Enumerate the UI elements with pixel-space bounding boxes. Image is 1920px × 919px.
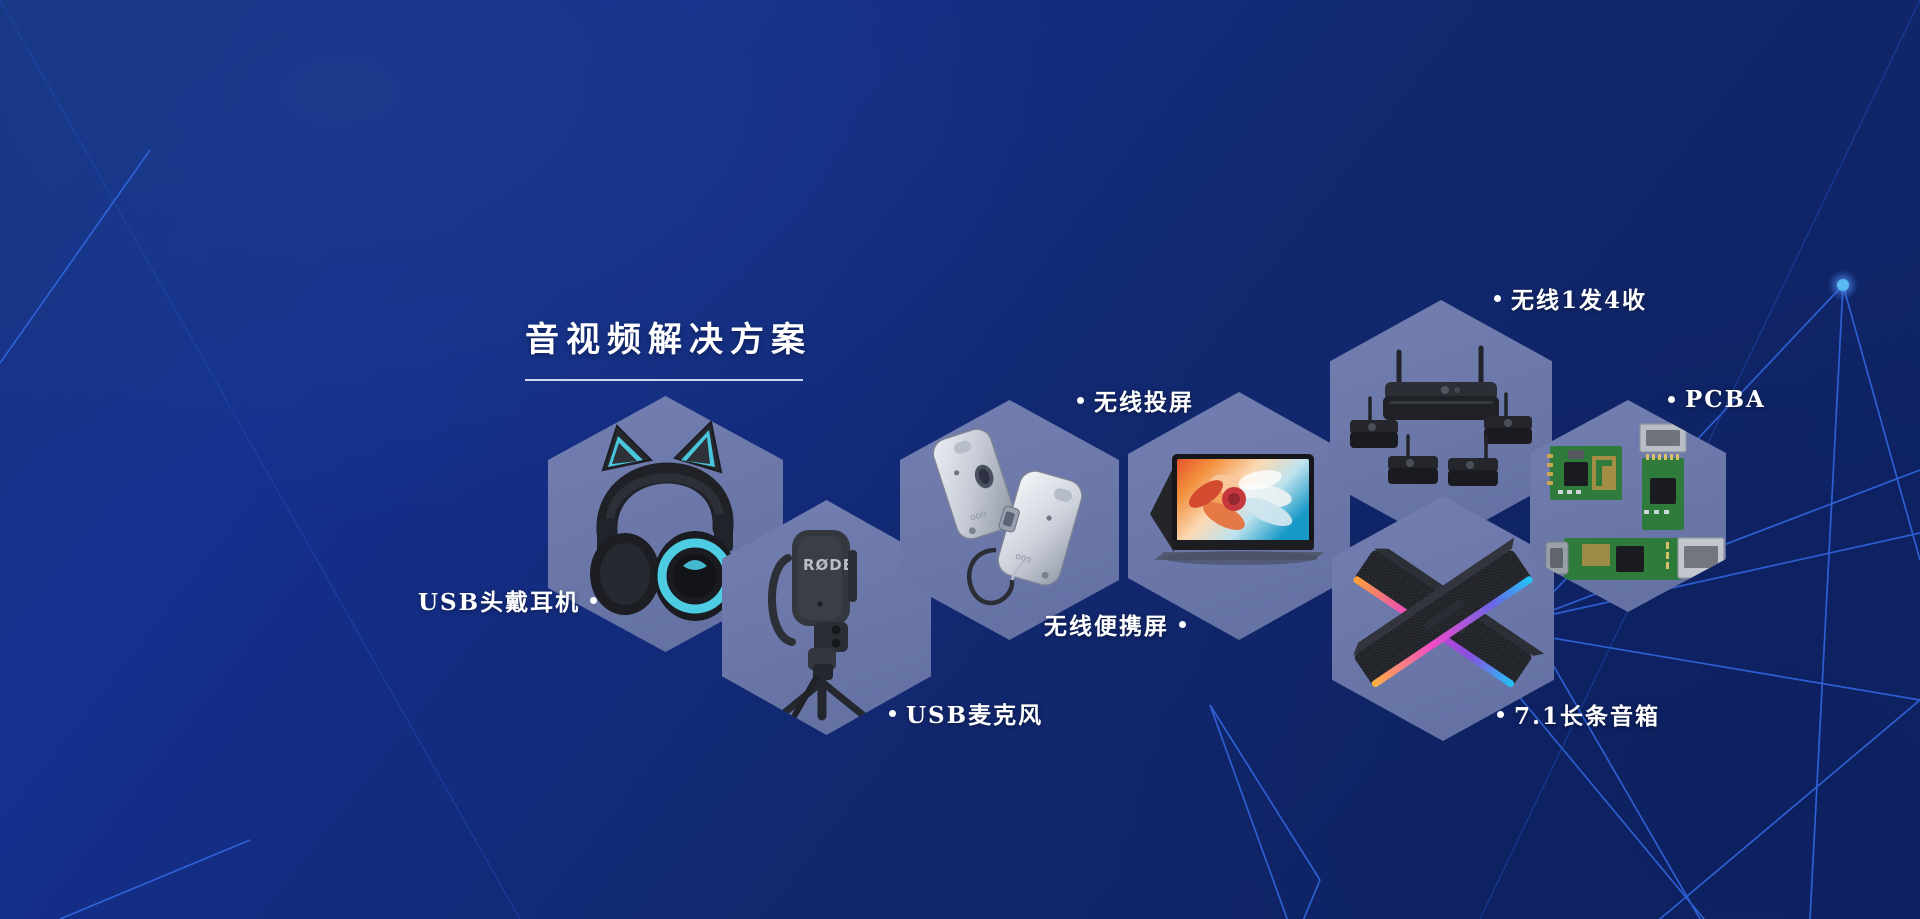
wireless-cast-dongle-icon: ooo ooo	[900, 400, 1119, 640]
label-wireless-casting: 无线投屏	[1077, 383, 1194, 417]
bullet-dot	[1497, 711, 1504, 718]
label-usb-headset: USB头戴耳机	[418, 583, 597, 617]
bullet-dot	[889, 710, 896, 717]
portable-monitor-icon	[1128, 392, 1350, 640]
svg-text:RØDE: RØDE	[803, 556, 854, 574]
title-underline	[525, 379, 803, 381]
label-usb-microphone: USB麦克风	[889, 696, 1043, 730]
label-pcba: PCBA	[1668, 386, 1766, 413]
label-usb-microphone-text: USB麦克风	[906, 696, 1043, 730]
label-soundbar-text: 7.1长条音箱	[1514, 697, 1660, 731]
label-wireless-casting-text: 无线投屏	[1094, 383, 1194, 417]
bullet-dot	[1077, 397, 1084, 404]
label-wireless-1t4r-text: 无线1发4收	[1511, 281, 1647, 315]
product-hex-wireless-casting[interactable]: ooo ooo	[900, 400, 1119, 640]
label-wireless-1t4r: 无线1发4收	[1494, 281, 1647, 315]
poster-canvas: 音视频解决方案	[0, 0, 1920, 919]
bullet-dot	[1179, 621, 1186, 628]
label-portable-monitor: 无线便携屏	[1044, 607, 1186, 641]
bullet-dot	[590, 597, 597, 604]
label-portable-monitor-text: 无线便携屏	[1044, 607, 1169, 641]
page-title: 音视频解决方案	[525, 312, 812, 361]
label-usb-headset-text: USB头戴耳机	[418, 583, 580, 617]
product-hex-portable-monitor[interactable]	[1128, 392, 1350, 640]
label-soundbar: 7.1长条音箱	[1497, 697, 1660, 731]
page-title-block: 音视频解决方案	[525, 312, 812, 381]
bullet-dot	[1668, 396, 1675, 403]
product-hex-pcba[interactable]	[1530, 400, 1726, 612]
label-pcba-text: PCBA	[1685, 386, 1766, 413]
pcba-icon	[1530, 400, 1726, 612]
bullet-dot	[1494, 295, 1501, 302]
